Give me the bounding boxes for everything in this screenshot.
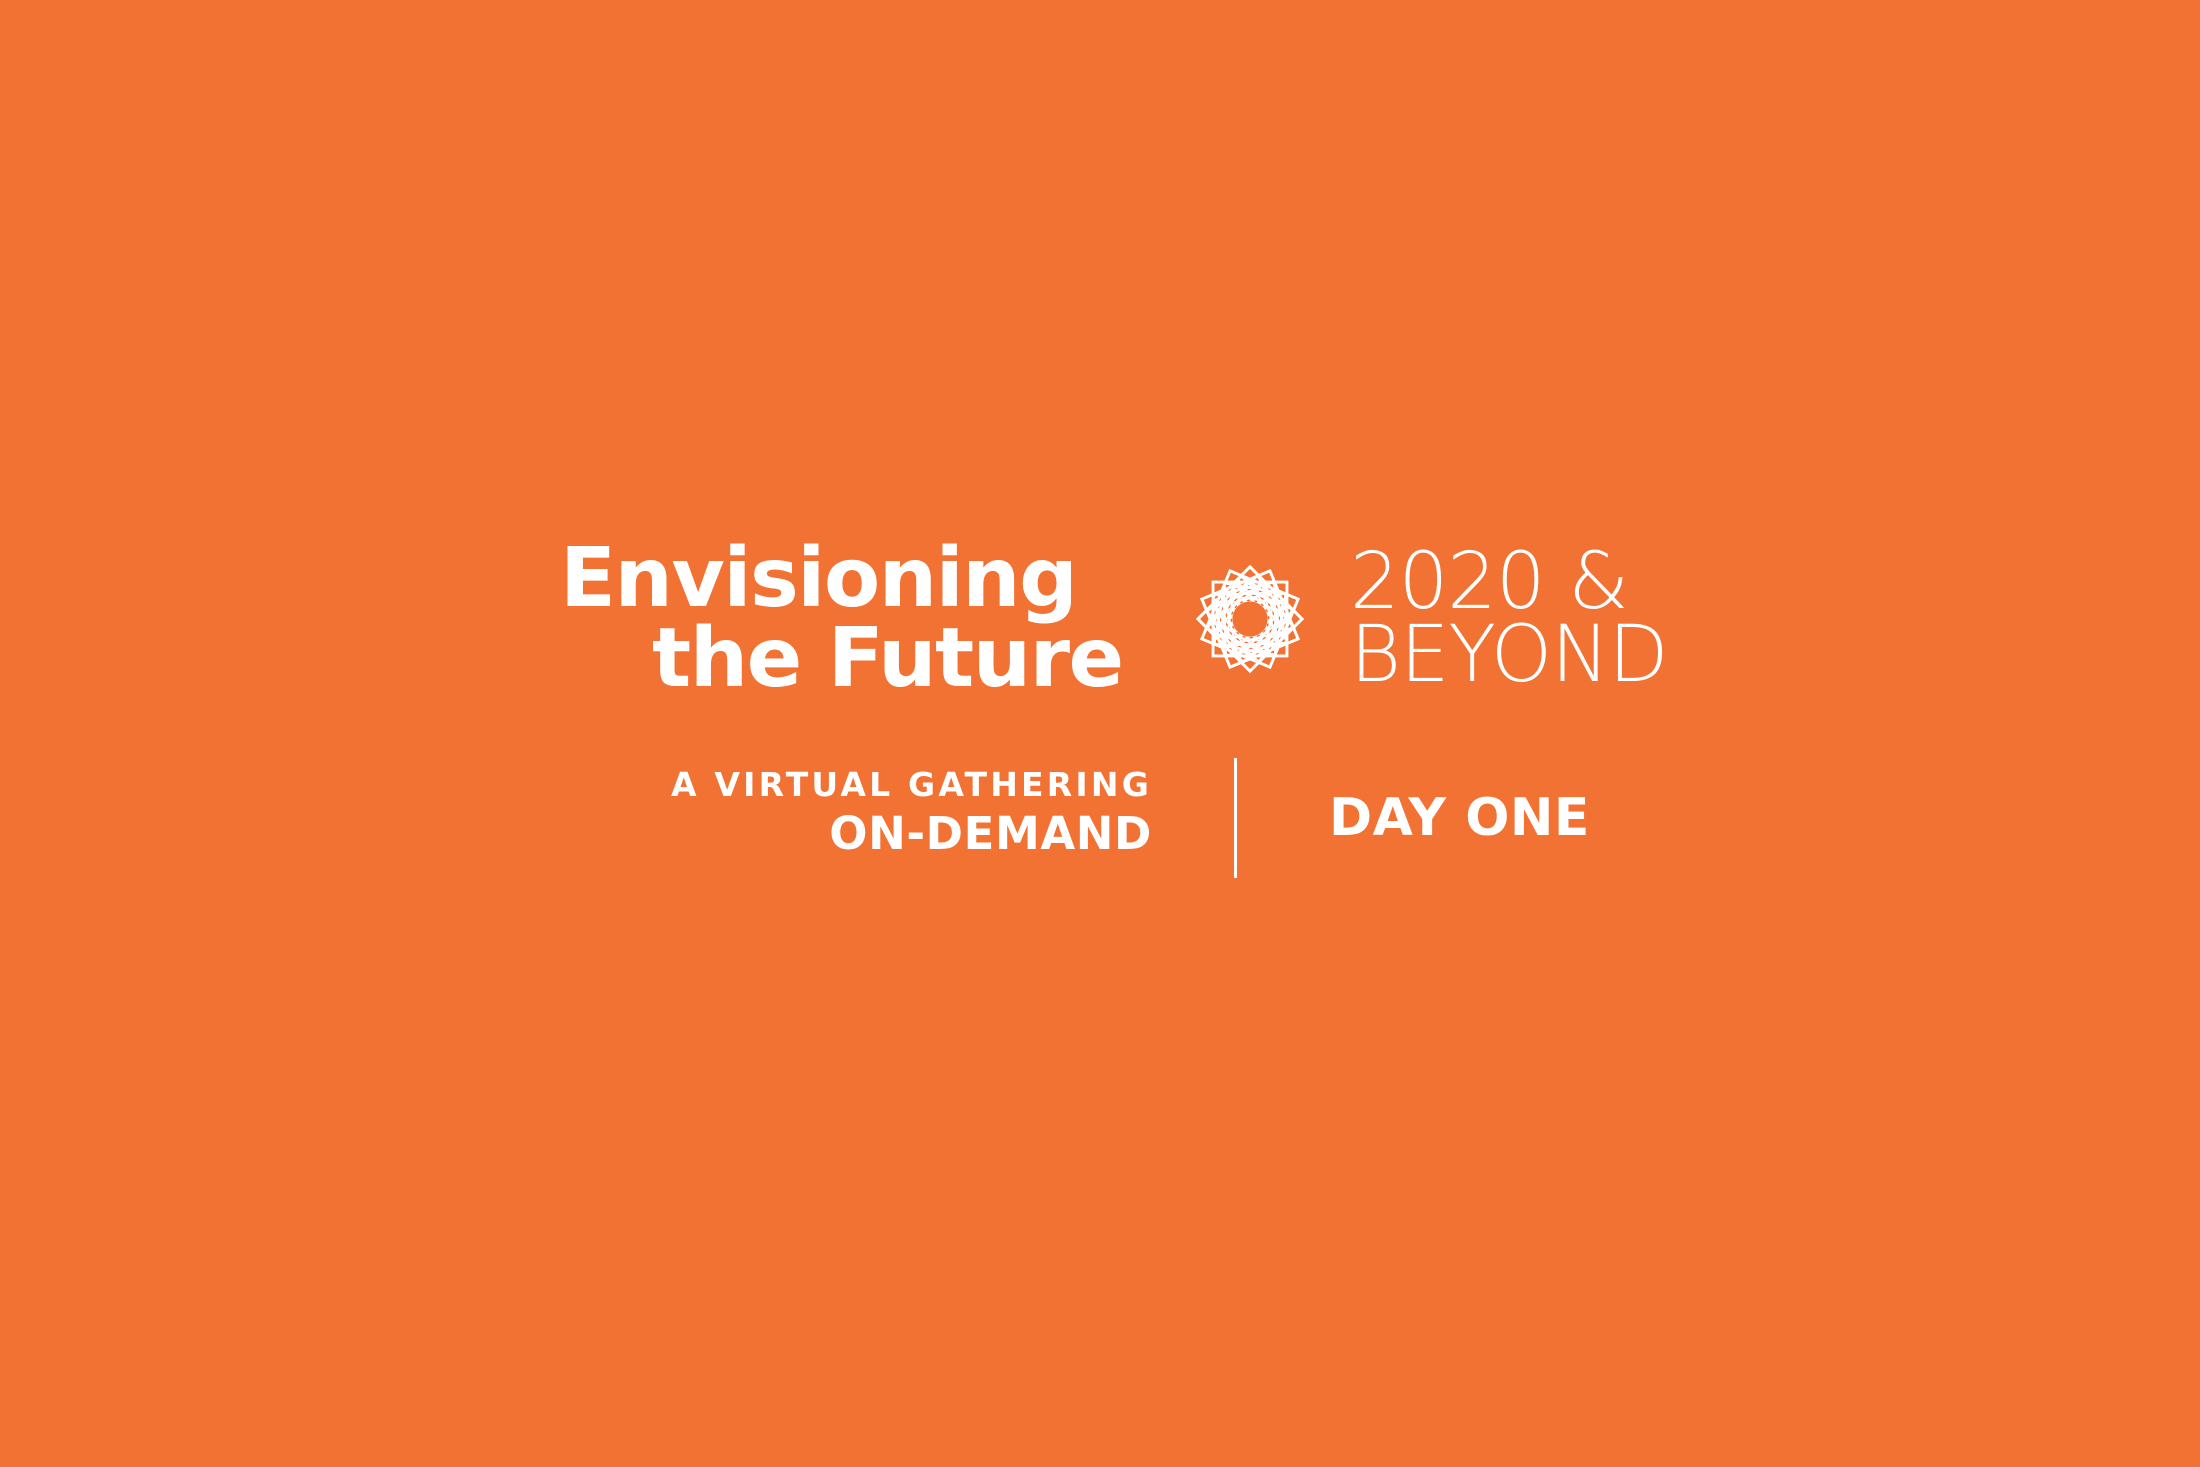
event-wordmark: Envisioning the Future [560, 539, 1150, 698]
tagline-small: A VIRTUAL GATHERING [560, 764, 1152, 805]
tagline-large: ON-DEMAND [560, 805, 1152, 863]
year-line-2: BEYOND [1350, 619, 1668, 692]
event-tagline: A VIRTUAL GATHERING ON-DEMAND [560, 750, 1152, 863]
meta-row: A VIRTUAL GATHERING ON-DEMAND DAY ONE [560, 750, 1620, 890]
slide-canvas: Envisioning the Future 2020 & BEYOND A V… [0, 0, 2200, 1467]
wordmark-line-2: the Future [560, 619, 1150, 699]
day-label-wrap: DAY ONE [1237, 758, 1620, 878]
event-title-lockup: Envisioning the Future 2020 & BEYOND A V… [560, 535, 1620, 900]
mandala-starburst-logo-icon [1166, 535, 1334, 703]
day-label: DAY ONE [1329, 788, 1590, 848]
brand-row: Envisioning the Future 2020 & BEYOND [560, 535, 1668, 703]
wordmark-line-1: Envisioning [560, 539, 1150, 619]
year-line-1: 2020 & [1350, 546, 1668, 619]
event-year: 2020 & BEYOND [1350, 546, 1668, 691]
